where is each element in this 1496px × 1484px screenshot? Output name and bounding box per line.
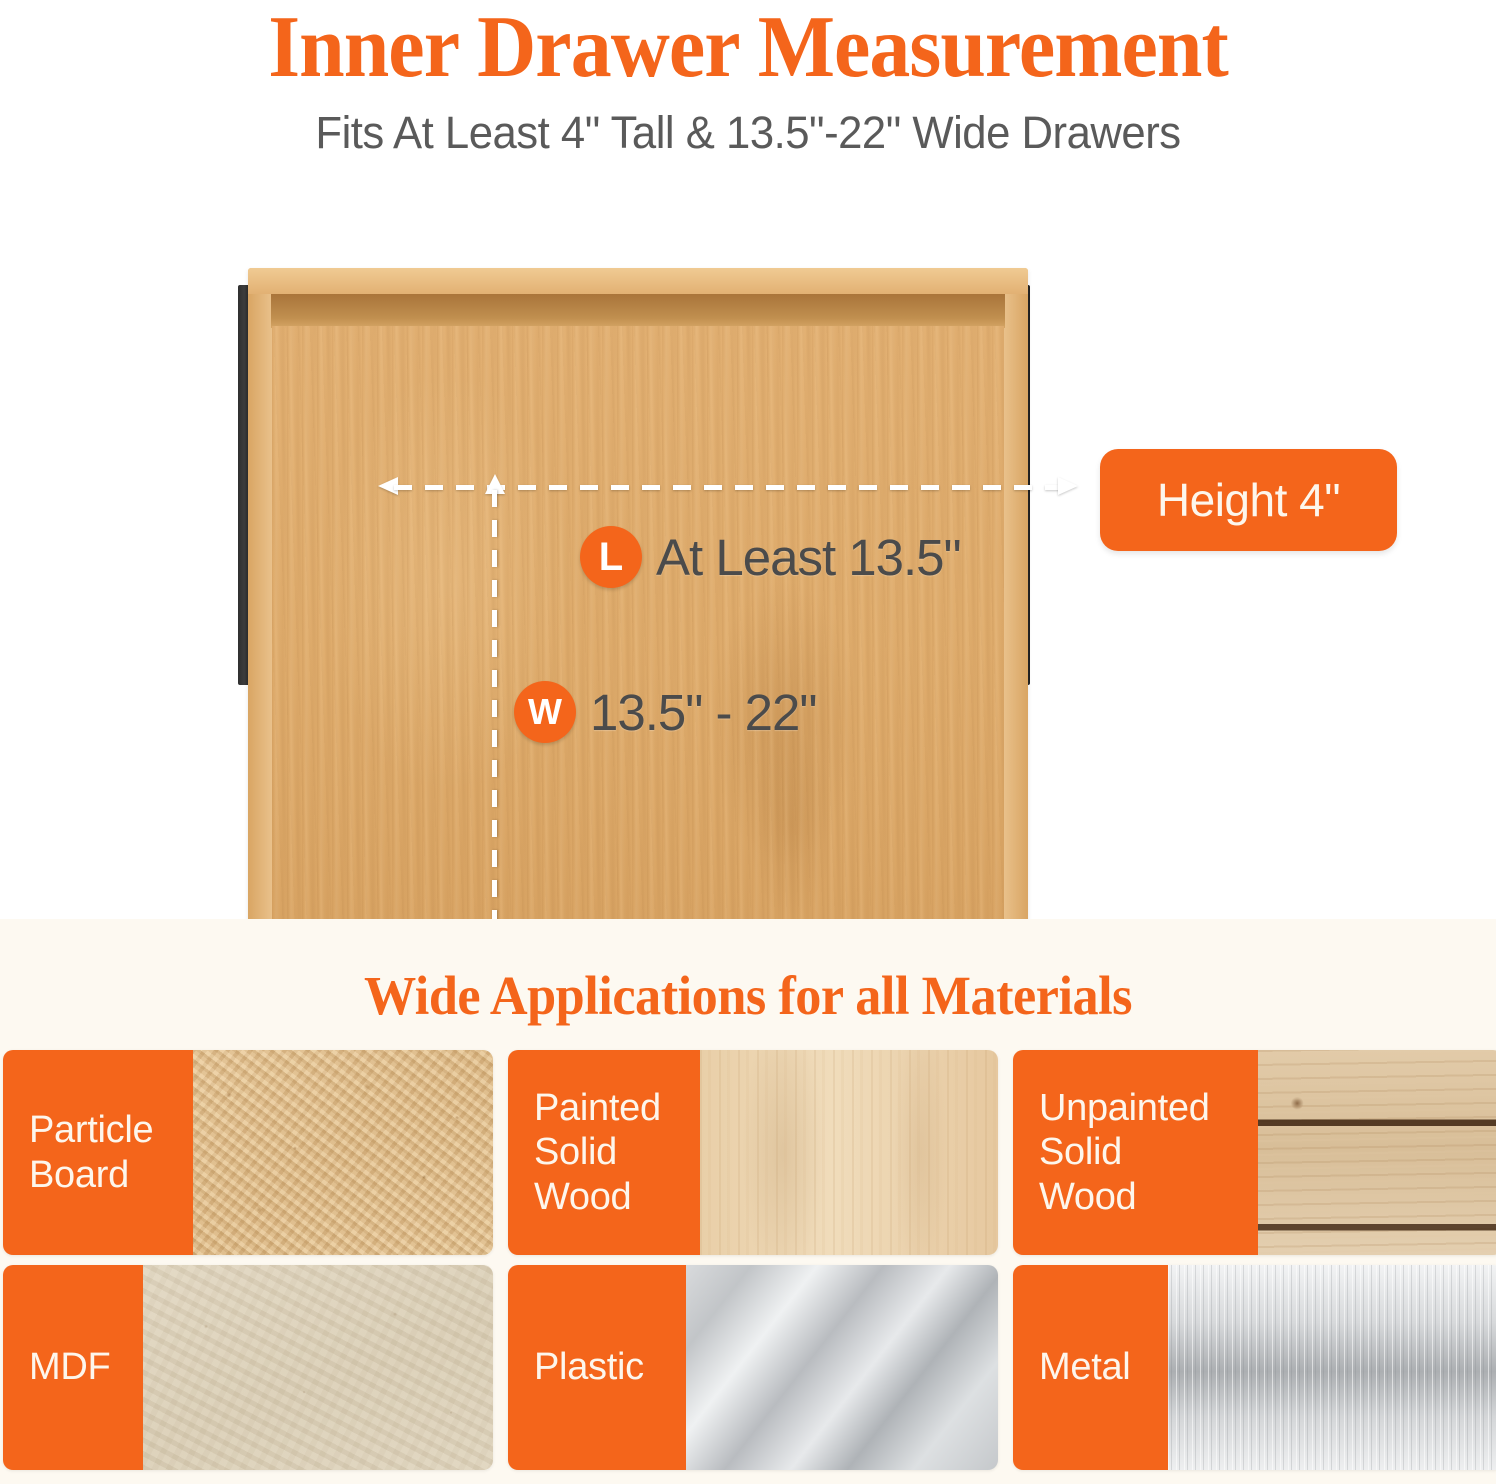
metal-texture-icon [1168,1265,1496,1470]
materials-title: Wide Applications for all Materials [37,964,1458,1027]
header: Inner Drawer Measurement Fits At Least 4… [0,0,1496,185]
material-label: Unpainted Solid Wood [1013,1050,1258,1255]
length-callout: L At Least 13.5" [580,526,961,588]
material-label: Plastic [508,1265,686,1470]
drawer-diagram: L At Least 13.5" W 13.5" - 22" [180,190,1080,850]
plastic-texture-icon [686,1265,998,1470]
drawer-wall-right [1004,294,1028,988]
material-tile-painted-solid-wood: Painted Solid Wood [508,1050,998,1255]
particle-board-texture-icon [193,1050,493,1255]
materials-grid: Particle Board Painted Solid Wood Unpain… [3,1050,1493,1470]
product-infographic: Inner Drawer Measurement Fits At Least 4… [0,0,1496,1484]
material-tile-plastic: Plastic [508,1265,998,1470]
length-callout-text: At Least 13.5" [656,528,961,587]
width-badge-icon: W [514,681,576,743]
material-label: Painted Solid Wood [508,1050,700,1255]
page-title: Inner Drawer Measurement [52,2,1443,94]
dashed-line [492,490,497,938]
material-label: Particle Board [3,1050,193,1255]
arrow-right-icon [1058,477,1078,495]
width-callout-text: 13.5" - 22" [590,683,817,742]
page-subtitle: Fits At Least 4" Tall & 13.5"-22" Wide D… [22,108,1473,158]
material-tile-unpainted-solid-wood: Unpainted Solid Wood [1013,1050,1496,1255]
length-badge-icon: L [580,526,642,588]
mdf-texture-icon [143,1265,493,1470]
height-badge: Height 4" [1100,449,1397,551]
drawer-wall-left [248,294,272,988]
drawer-body [248,268,1028,958]
width-callout: W 13.5" - 22" [514,681,817,743]
material-tile-particle-board: Particle Board [3,1050,493,1255]
material-tile-metal: Metal [1013,1265,1496,1470]
material-label: MDF [3,1265,143,1470]
drawer-inner-bevel [271,294,1005,328]
length-dimension-line [378,484,1078,492]
drawer-interior-wood [272,326,1004,966]
materials-section: Wide Applications for all Materials Part… [0,919,1496,1484]
drawer-top-rim [248,268,1028,294]
painted-solid-wood-texture-icon [700,1050,998,1255]
material-label: Metal [1013,1265,1168,1470]
width-dimension-line [491,474,499,952]
unpainted-solid-wood-texture-icon [1258,1050,1496,1255]
material-tile-mdf: MDF [3,1265,493,1470]
